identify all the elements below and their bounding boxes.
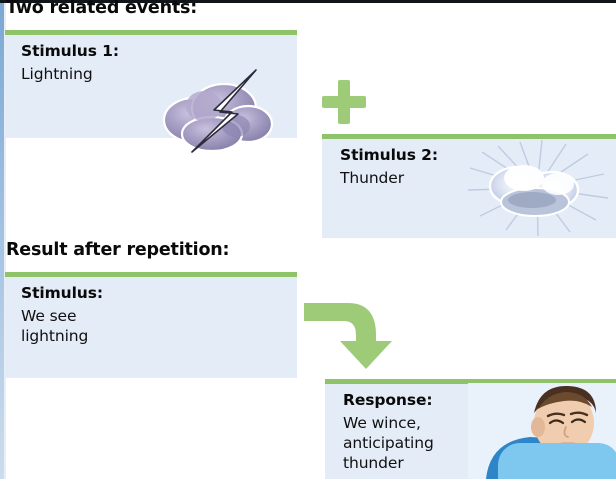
panel-stimulus-result: Stimulus: We see lightning (5, 272, 297, 378)
panel-response-text-line-1: We wince, (343, 414, 421, 432)
blue-overlay-blob (498, 443, 616, 479)
panel-accent-bar (322, 134, 616, 139)
panel-stimulus-2-label: Stimulus 2: (340, 146, 438, 164)
plus-vertical-bar (338, 80, 350, 124)
panel-stimulus-2-text: Thunder (340, 169, 404, 187)
panel-stimulus-result-text-line-2: lightning (21, 327, 88, 345)
panel-response-label: Response: (343, 391, 433, 409)
panel-accent-bar (5, 272, 297, 277)
storm-cloud-lightning-icon (152, 62, 282, 160)
panel-stimulus-result-text-line-1: We see (21, 307, 76, 325)
panel-response-text-line-3: thunder (343, 454, 404, 472)
plus-sign-connector (322, 80, 366, 124)
panel-stimulus-1-label: Stimulus 1: (21, 42, 119, 60)
curved-down-right-arrow-connector (300, 295, 400, 375)
panel-stimulus-1: Stimulus 1: Lightning (5, 30, 297, 138)
section-heading-result-after-repetition: Result after repetition: (6, 240, 229, 260)
diagram-canvas: Two related events: Stimulus 1: Lightnin… (0, 0, 616, 479)
panel-accent-bar (5, 30, 297, 35)
panel-response-text-line-2: anticipating (343, 434, 434, 452)
panel-stimulus-1-text: Lightning (21, 65, 93, 83)
section-heading-two-related-events: Two related events: (6, 0, 197, 18)
panel-stimulus-result-label: Stimulus: (21, 284, 103, 302)
thunder-cloud-icon (462, 140, 612, 236)
